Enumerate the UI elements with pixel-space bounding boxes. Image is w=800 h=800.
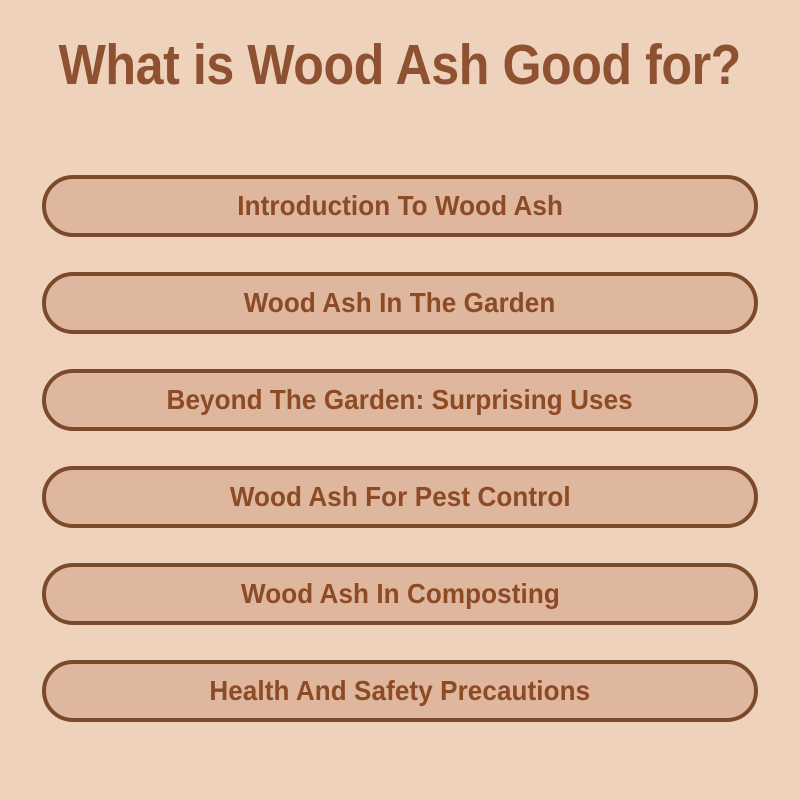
toc-item-label: Health And Safety Precautions [210,677,591,705]
poster-canvas: What is Wood Ash Good for? Introduction … [0,0,800,800]
toc-item-introduction-to-wood-ash[interactable]: Introduction To Wood Ash [42,175,758,237]
toc-item-label: Introduction To Wood Ash [237,192,563,220]
table-of-contents-list: Introduction To Wood Ash Wood Ash In The… [42,175,758,722]
toc-item-label: Wood Ash In The Garden [244,289,556,317]
toc-item-wood-ash-in-the-garden[interactable]: Wood Ash In The Garden [42,272,758,334]
toc-item-wood-ash-for-pest-control[interactable]: Wood Ash For Pest Control [42,466,758,528]
toc-item-label: Wood Ash For Pest Control [230,483,571,511]
page-title-container: What is Wood Ash Good for? [0,36,800,96]
page-title: What is Wood Ash Good for? [59,36,741,96]
toc-item-label: Wood Ash In Composting [241,580,560,608]
toc-item-wood-ash-in-composting[interactable]: Wood Ash In Composting [42,563,758,625]
toc-item-label: Beyond The Garden: Surprising Uses [167,386,633,414]
toc-item-beyond-the-garden-surprising-uses[interactable]: Beyond The Garden: Surprising Uses [42,369,758,431]
toc-item-health-and-safety-precautions[interactable]: Health And Safety Precautions [42,660,758,722]
